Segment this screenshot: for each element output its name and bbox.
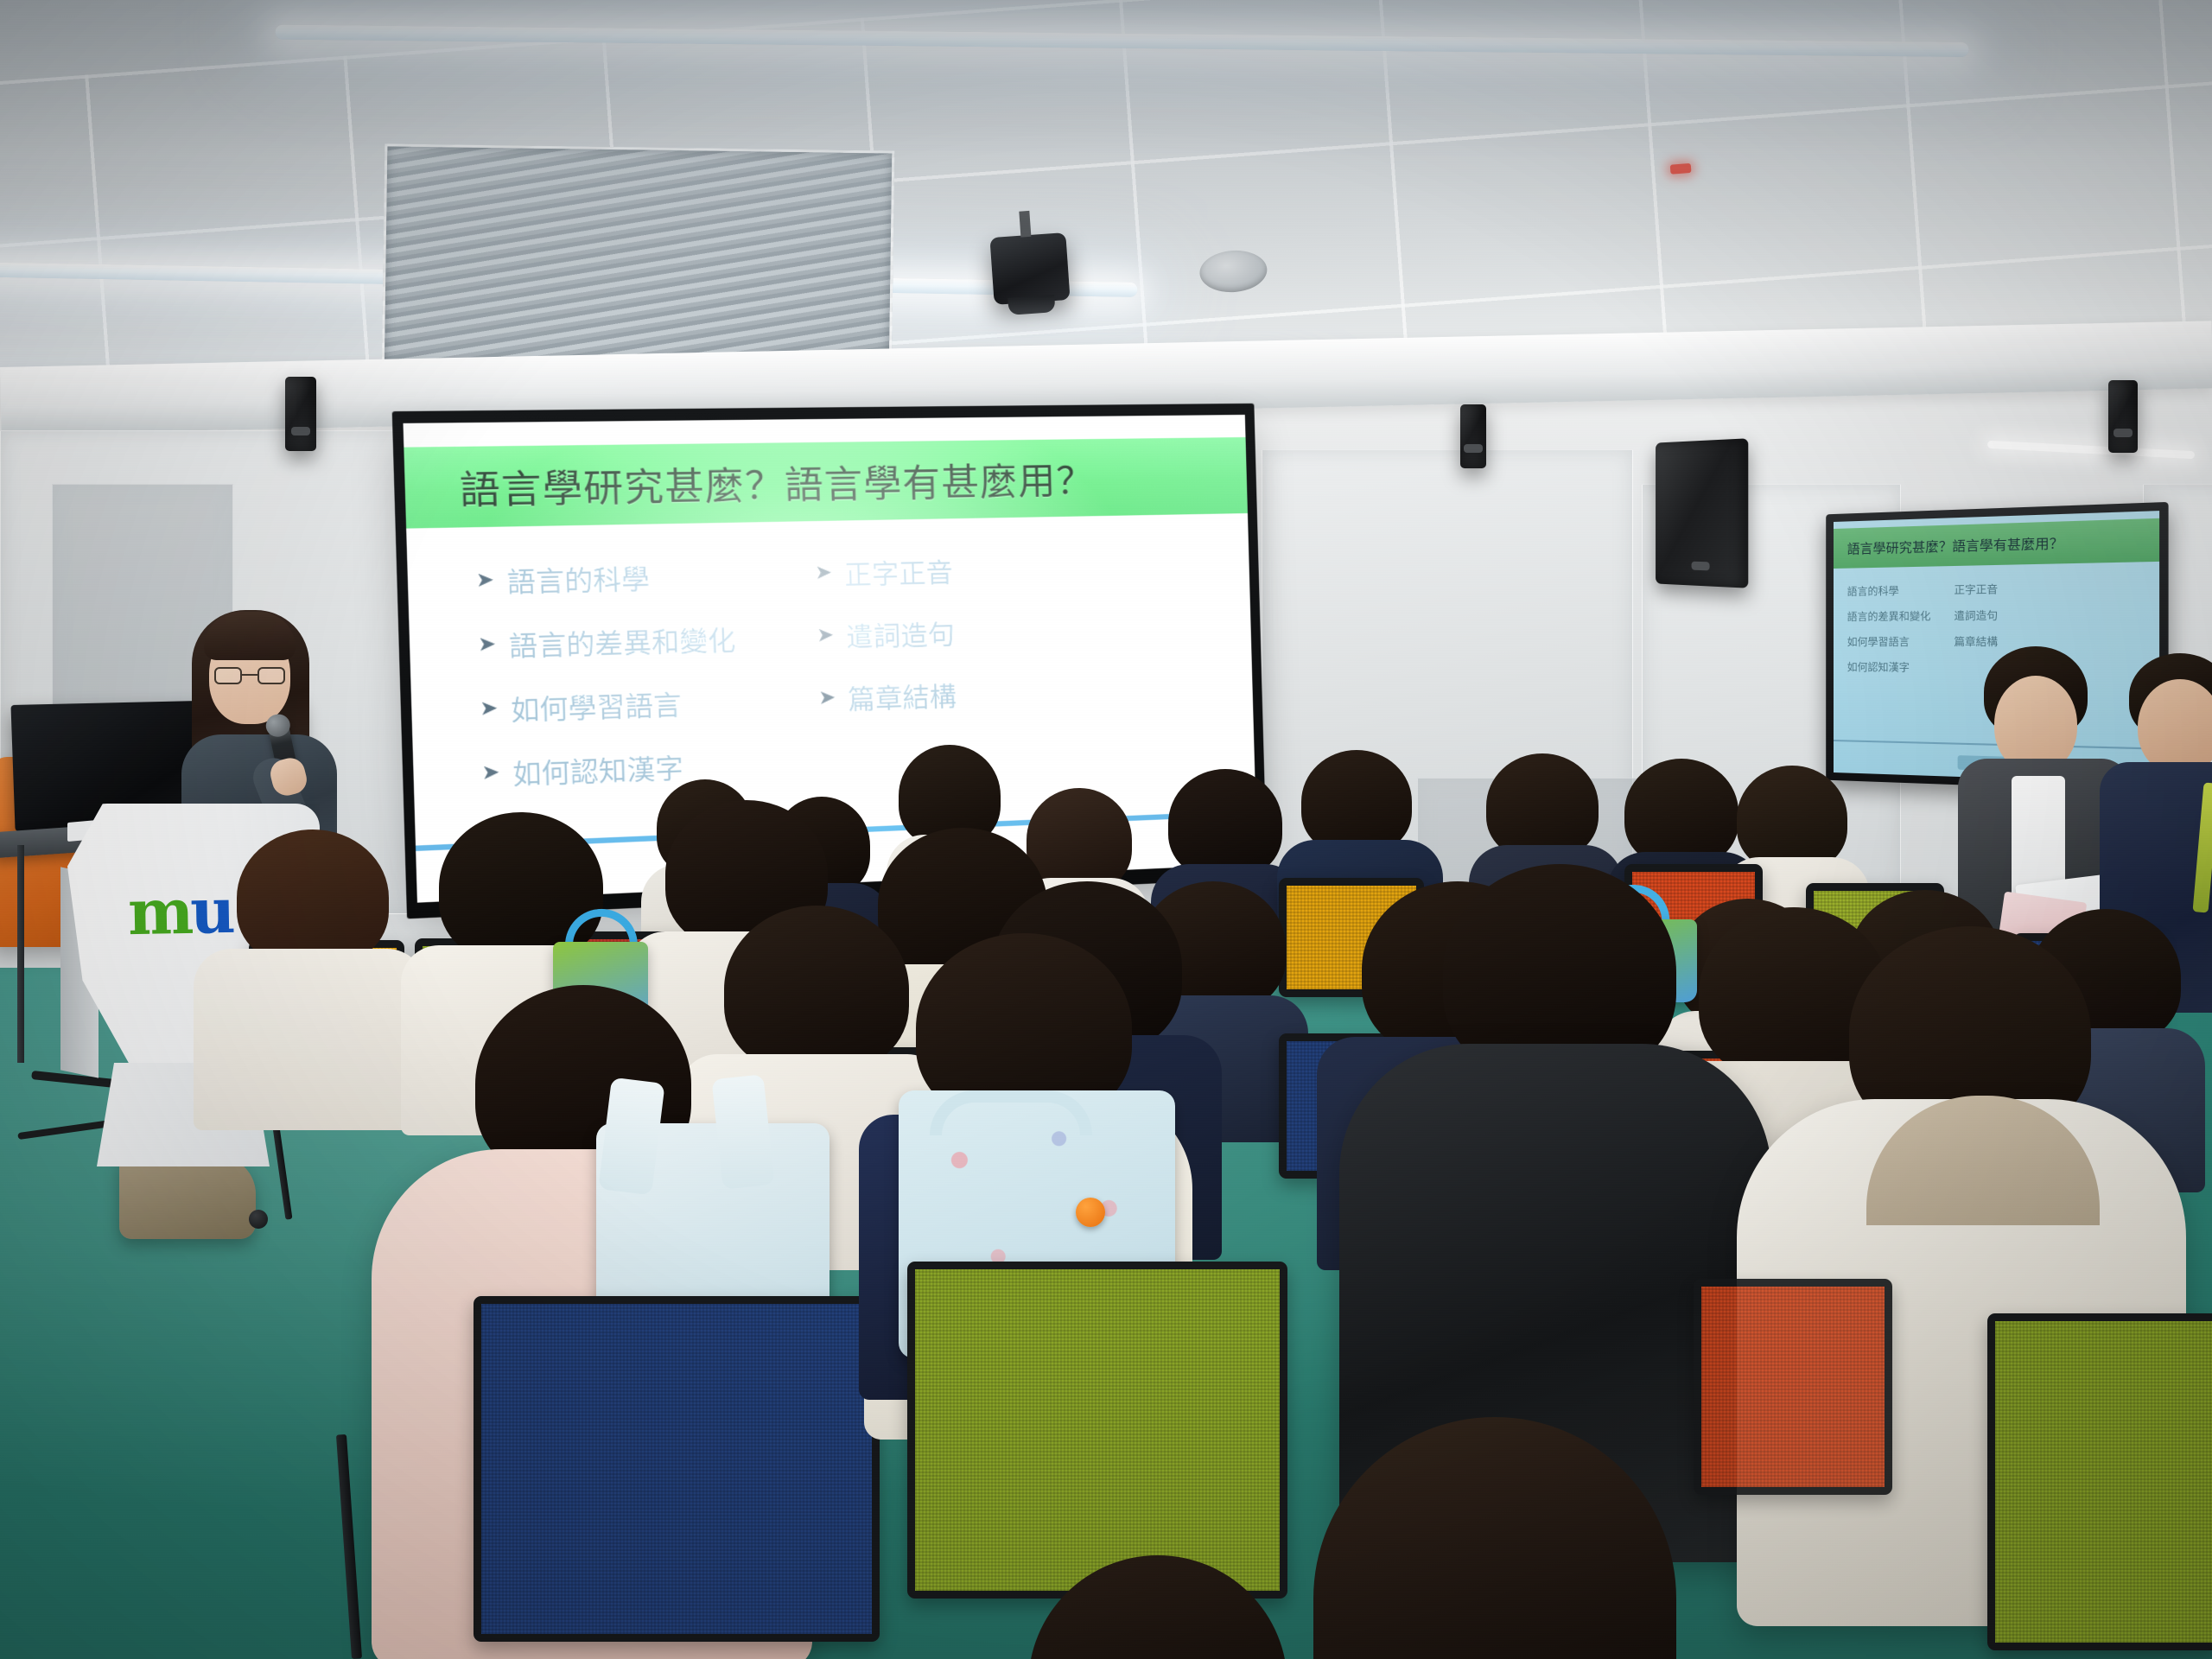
floor-tote-bag[interactable]: [119, 1156, 256, 1239]
wall-speaker: [1460, 404, 1486, 468]
side-slide-header: 語言學研究甚麼？語言學有甚麼用？: [1834, 518, 2159, 569]
lecture-hall-photo: 語言學研究甚麼？語言學有甚麼用？ ➤ 語言的科學 ➤ 語言的差異和變化 ➤ 如何…: [0, 0, 2212, 1659]
slide-header-band: 語言學研究甚麼？語言學有甚麼用？: [404, 437, 1248, 529]
slide-bullet-text: 語言的差異和變化: [508, 618, 736, 664]
bullet-arrow-icon: ➤: [818, 687, 836, 708]
slide-bullet: ➤ 如何認知漢字: [481, 741, 821, 793]
audience-member-foreground: [1313, 1417, 1676, 1659]
audience-member: [223, 829, 396, 1071]
wall-speaker: [285, 377, 316, 451]
side-bullet: 語言的科學: [1847, 582, 1931, 599]
bullet-arrow-icon: ➤: [481, 762, 500, 784]
slide-bullet-column-left: ➤ 語言的科學 ➤ 語言的差異和變化 ➤ 如何學習語言 ➤ 如何認知漢字: [475, 553, 822, 835]
audience-chair-foreground[interactable]: [907, 1262, 1287, 1599]
chair-caster: [249, 1210, 268, 1229]
slide-bullet-text: 正字正音: [843, 550, 953, 592]
bullet-arrow-icon: ➤: [817, 625, 835, 645]
slide-title: 語言學研究甚麼？語言學有甚麼用？: [459, 451, 1095, 515]
logo-mark: mu: [128, 887, 233, 937]
side-bullet: 語言的差異和變化: [1847, 608, 1931, 624]
slide-bullet: ➤ 篇章結構: [817, 670, 1114, 718]
slide-bullet-text: 如何學習語言: [510, 683, 682, 728]
slide-bullet-text: 遣詞造句: [845, 613, 955, 655]
side-bullet: 正字正音: [1954, 582, 1998, 597]
slide-bullet: ➤ 語言的科學: [475, 553, 816, 601]
slide-bullet: ➤ 遣詞造句: [816, 608, 1112, 655]
presenter-fringe: [204, 612, 296, 660]
bullet-arrow-icon: ➤: [477, 633, 496, 655]
bullet-arrow-icon: ➤: [815, 563, 833, 583]
desk-leg: [17, 845, 24, 1063]
slide-bullet: ➤ 語言的差異和變化: [477, 616, 817, 665]
side-slide-title: 語言學研究甚麼？語言學有甚麼用？: [1847, 533, 2063, 557]
bullet-arrow-icon: ➤: [480, 698, 499, 720]
wall-speaker: [1656, 438, 1748, 588]
slide-bullet: ➤ 正字正音: [814, 547, 1111, 593]
wall-speaker: [2108, 380, 2138, 453]
side-bullet: 如何學習語言: [1847, 634, 1931, 649]
backpack-charm: [1076, 1198, 1105, 1227]
slide-bullet-text: 語言的科學: [506, 556, 650, 600]
audience-member-foreground: [1028, 1555, 1287, 1659]
audience-chair[interactable]: [1694, 1279, 1892, 1495]
slide-bullet: ➤ 如何學習語言: [479, 678, 818, 729]
side-bullet: 遣詞造句: [1954, 607, 1998, 623]
audience-member-foreground: [1365, 864, 1728, 1503]
side-bullet: 如何認知漢字: [1847, 659, 1931, 675]
logo-letter-m: m: [127, 874, 191, 948]
audience-chair-foreground[interactable]: [1987, 1313, 2212, 1650]
backpack-handle: [930, 1090, 1092, 1135]
side-bullet-column-left: 語言的科學 語言的差異和變化 如何學習語言 如何認知漢字: [1847, 582, 1931, 675]
glasses-icon: [214, 667, 285, 684]
slide-bullet-text: 篇章結構: [848, 674, 957, 716]
bullet-arrow-icon: ➤: [475, 569, 494, 591]
audience-chair-foreground[interactable]: [474, 1296, 880, 1642]
